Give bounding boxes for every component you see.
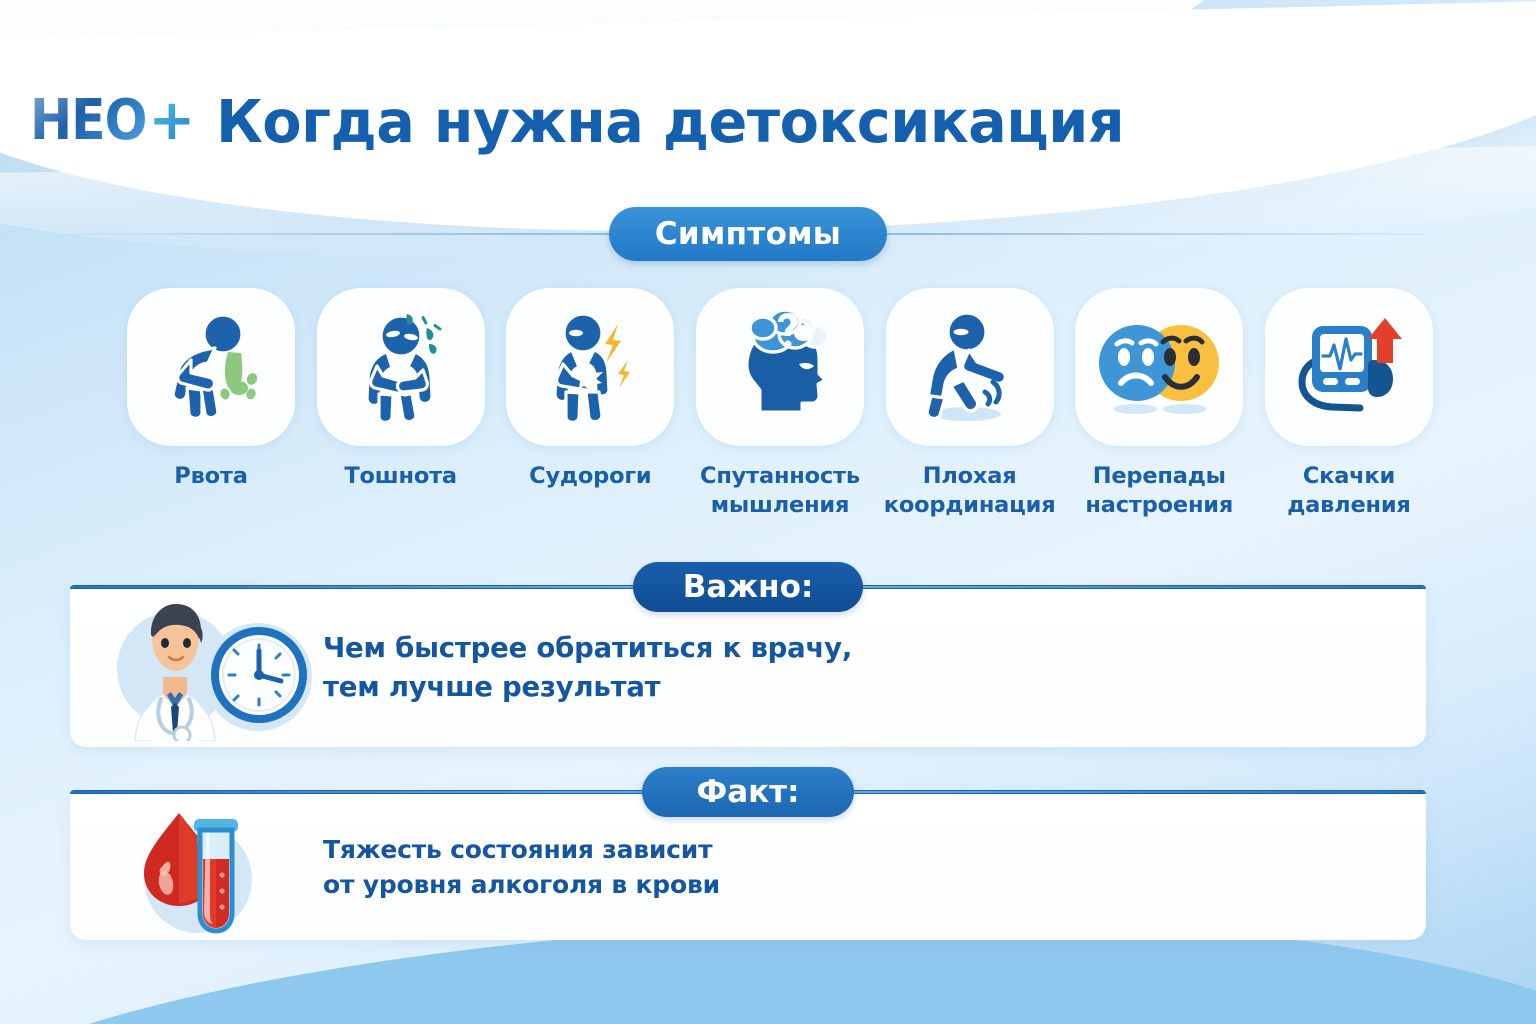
symptom-label: Скачкидавления [1287,462,1411,520]
brand-logo-text: НЕО [30,93,146,149]
symptom-item[interactable]: Рвота [125,288,297,538]
symptoms-section-header: Симптомы [70,207,1426,261]
symptom-icon-card[interactable] [696,288,864,446]
important-pill: Важно: [633,562,864,612]
symptom-icon-card[interactable] [127,288,295,446]
symptom-item[interactable]: Скачкидавления [1263,288,1435,538]
symptom-icon-card[interactable] [1075,288,1243,446]
mood-swing-faces-icon [1097,311,1221,423]
important-line-2: тем лучше результат [323,668,852,707]
blood-pressure-monitor-icon [1288,308,1410,426]
symptom-label: Плохаякоординация [884,462,1056,520]
symptom-icon-card[interactable] [886,288,1054,446]
symptom-label: Рвота [174,462,247,491]
important-card-text: Чем быстрее обратиться к врачу, тем лучш… [323,629,852,707]
divider-left [70,791,642,793]
important-line-1: Чем быстрее обратиться к врачу, [323,629,852,668]
divider-left [70,586,633,588]
symptom-item[interactable]: Перепадынастроения [1073,288,1245,538]
doctor-with-clock-icon [113,595,318,741]
fact-line-1: Тяжесть состояния зависит [323,832,720,868]
symptoms-list: Рвота [125,288,1435,538]
confused-head-icon [719,308,841,426]
nausea-person-icon [341,308,461,426]
fact-pill: Факт: [642,767,853,817]
symptom-label: Перепадынастроения [1085,462,1233,520]
symptom-icon-card[interactable] [506,288,674,446]
divider-right [854,791,1426,793]
fact-line-2: от уровня алкоголя в крови [323,867,720,903]
fact-card-text: Тяжесть состояния зависит от уровня алко… [323,832,720,903]
symptom-item[interactable]: Тошнота [315,288,487,538]
brand-logo: НЕО+ [30,93,194,149]
symptom-label: Судороги [529,462,651,491]
divider-right [863,586,1426,588]
page-header: НЕО+ Когда нужна детоксикация [0,78,1536,164]
symptom-label: Тошнота [344,462,457,491]
brand-logo-plus-icon: + [148,93,194,149]
vomiting-person-icon [151,308,271,426]
symptoms-pill: Симптомы [609,207,887,261]
symptom-icon-card[interactable] [1265,288,1433,446]
symptom-icon-card[interactable] [317,288,485,446]
cramps-person-icon [530,308,650,426]
page-title: Когда нужна детоксикация [216,87,1124,156]
divider-right [887,233,1426,235]
symptom-item[interactable]: Судороги [504,288,676,538]
symptom-label: Спутанностьмышления [700,462,860,520]
divider-left [70,233,609,235]
fact-section-header: Факт: [70,765,1426,819]
symptom-item[interactable]: Плохаякоординация [884,288,1056,538]
symptom-item[interactable]: Спутанностьмышления [694,288,866,538]
important-card-art [108,595,323,741]
important-section-header: Важно: [70,560,1426,614]
stumbling-person-icon [909,308,1031,426]
